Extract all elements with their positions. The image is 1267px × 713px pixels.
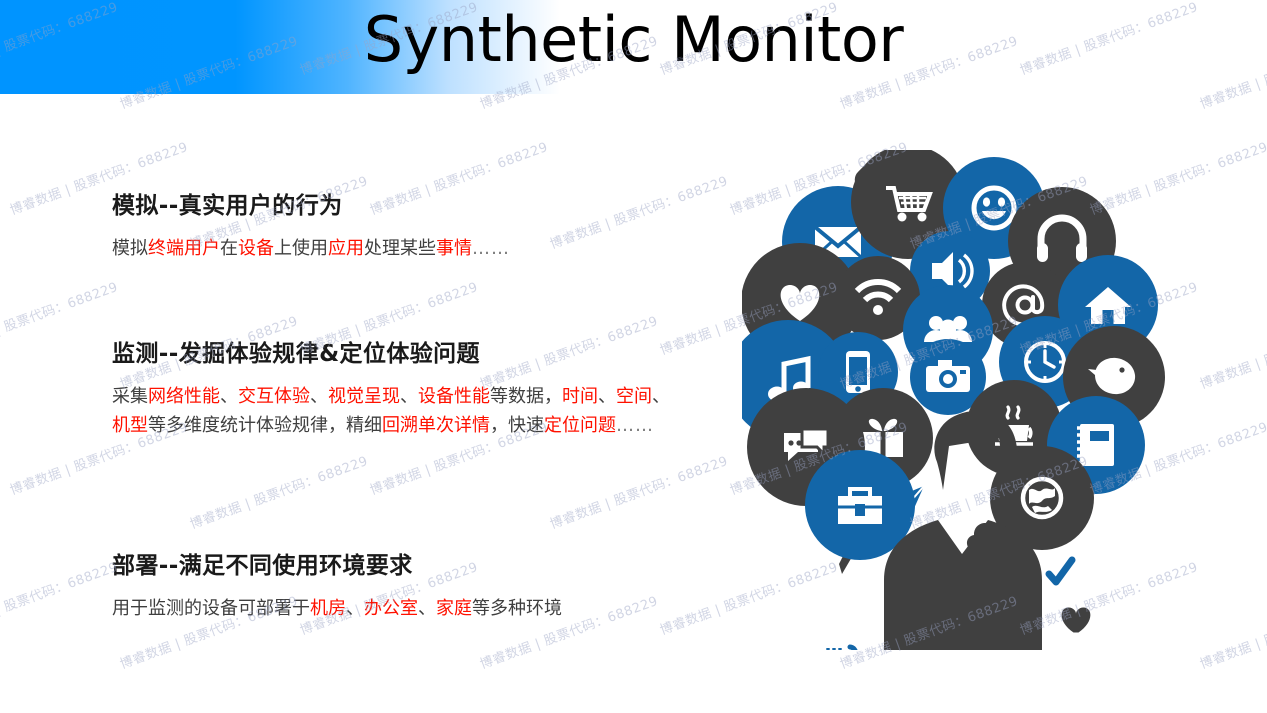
section-heading: 监测--发掘体验规律&定位体验问题 [112,334,672,368]
body-text-run: 采集 [112,386,148,407]
highlighted-term: 交互体验 [238,386,310,407]
section-heading: 模拟--真实用户的行为 [112,186,672,220]
highlighted-term: 终端用户 [148,238,220,259]
section-heading: 部署--满足不同使用环境要求 [112,546,672,580]
section-body: 采集网络性能、交互体验、视觉呈现、设备性能等数据，时间、空间、机型等多维度统计体… [112,382,672,440]
slide-canvas: Synthetic Monitor 模拟--真实用户的行为 模拟终端用户在设备上… [0,0,1267,713]
body-text-run: 等多维度统计体验规律，精细 [148,415,382,436]
watermark-text: 博睿数据 | 股票代码：688229 [547,450,730,532]
highlighted-term: 办公室 [364,598,418,619]
body-text-run: 、 [598,386,616,407]
watermark-text: 博睿数据 | 股票代码：688229 [1197,310,1267,392]
highlighted-term: 回溯单次详情 [382,415,490,436]
body-text-run: 、 [400,386,418,407]
body-text-run: 上使用 [274,238,328,259]
section-body: 用于监测的设备可部署于机房、办公室、家庭等多种环境 [112,594,672,623]
highlighted-term: 视觉呈现 [328,386,400,407]
highlighted-term: 家庭 [436,598,472,619]
highlighted-term: 设备 [238,238,274,259]
highlighted-term: 机房 [310,598,346,619]
body-text-run: …… [472,238,510,259]
highlighted-term: 定位问题 [544,415,616,436]
watermark-text: 博睿数据 | 股票代码：688229 [0,276,120,358]
watermark-text: 博睿数据 | 股票代码：688229 [1197,590,1267,672]
body-text-run: ，快速 [490,415,544,436]
watermark-text: 博睿数据 | 股票代码：688229 [187,450,370,532]
page-title: Synthetic Monitor [0,6,1267,74]
watermark-text: 博睿数据 | 股票代码：688229 [0,556,120,638]
section-body: 模拟终端用户在设备上使用应用处理某些事情…… [112,234,672,263]
body-text-run: 、 [652,386,670,407]
highlighted-term: 设备性能 [418,386,490,407]
body-text-run: 用于监测的设备可部署于 [112,598,310,619]
body-text-run: 、 [220,386,238,407]
section-deploy: 部署--满足不同使用环境要求 用于监测的设备可部署于机房、办公室、家庭等多种环境 [112,546,672,623]
highlighted-term: 应用 [328,238,364,259]
body-text-run: 、 [418,598,436,619]
small-heart-icon [1062,608,1091,633]
body-text-run: 处理某些 [364,238,436,259]
check-icon [1049,560,1072,582]
body-text-run: 在 [220,238,238,259]
body-text-run: 模拟 [112,238,148,259]
fork-knife-icon [828,647,857,650]
section-simulate: 模拟--真实用户的行为 模拟终端用户在设备上使用应用处理某些事情…… [112,186,672,263]
body-text-run: …… [616,415,654,436]
body-text-run: 、 [310,386,328,407]
highlighted-term: 时间 [562,386,598,407]
section-monitor: 监测--发掘体验规律&定位体验问题 采集网络性能、交互体验、视觉呈现、设备性能等… [112,334,672,440]
body-text-run: 等数据， [490,386,562,407]
highlighted-term: 空间 [616,386,652,407]
body-text-run: 等多种环境 [472,598,562,619]
icon-cloud-illustration [742,150,1182,650]
highlighted-term: 事情 [436,238,472,259]
body-text-run: 、 [346,598,364,619]
highlighted-term: 网络性能 [148,386,220,407]
highlighted-term: 机型 [112,415,148,436]
